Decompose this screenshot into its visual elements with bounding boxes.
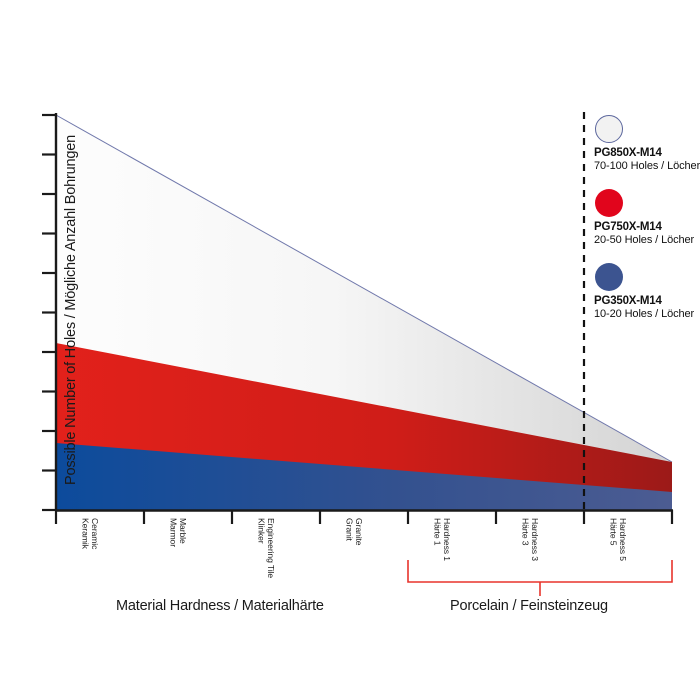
xtick-label-engineering-tile: Engineering Tile Klinker [256, 518, 275, 578]
xtick-label-ceramic: Ceramic Keramik [80, 518, 99, 549]
legend-item-pg750x: PG750X-M14 20-50 Holes / Löcher [594, 221, 694, 247]
xtick-label-hardness-5: Hardness 5 Härte 5 [608, 518, 627, 561]
xtick-label-engineering-tile-en: Engineering Tile [266, 518, 276, 578]
y-axis-title: Possible Number of Holes / Mögliche Anza… [63, 110, 79, 510]
legend-title-pg750x: PG750X-M14 [594, 221, 694, 234]
legend-swatch-pg850x [595, 115, 623, 143]
xtick-label-hardness-1: Hardness 1 Härte 1 [432, 518, 451, 561]
xtick-label-hardness-1-de: Härte 1 [432, 518, 442, 561]
xtick-label-ceramic-de: Keramik [80, 518, 90, 549]
hardness-area-chart [0, 0, 700, 700]
caption-porcelain: Porcelain / Feinsteinzeug [450, 598, 608, 614]
legend-swatch-pg350x [595, 263, 623, 291]
porcelain-bracket [408, 560, 672, 596]
xtick-label-hardness-5-de: Härte 5 [608, 518, 618, 561]
caption-material-hardness: Material Hardness / Materialhärte [116, 598, 324, 614]
xtick-label-hardness-3: Hardness 3 Härte 3 [520, 518, 539, 561]
legend-item-pg850x: PG850X-M14 70-100 Holes / Löcher [594, 147, 700, 173]
xtick-label-marble-de: Marmor [168, 518, 178, 547]
chart-canvas: Possible Number of Holes / Mögliche Anza… [0, 0, 700, 700]
xtick-label-granite: Granite Granit [344, 518, 363, 545]
xtick-label-ceramic-en: Ceramic [90, 518, 100, 549]
legend-subtitle-pg750x: 20-50 Holes / Löcher [594, 234, 694, 247]
legend-subtitle-pg350x: 10-20 Holes / Löcher [594, 308, 694, 321]
xtick-label-granite-de: Granit [344, 518, 354, 545]
legend-swatch-pg750x [595, 189, 623, 217]
legend-title-pg350x: PG350X-M14 [594, 295, 694, 308]
xtick-label-engineering-tile-de: Klinker [256, 518, 266, 578]
legend-title-pg850x: PG850X-M14 [594, 147, 700, 160]
xtick-label-hardness-1-en: Hardness 1 [442, 518, 452, 561]
xtick-label-marble: Marble Marmor [168, 518, 187, 547]
y-axis-ticks [42, 115, 56, 510]
xtick-label-hardness-3-de: Härte 3 [520, 518, 530, 561]
x-axis-ticks [56, 510, 672, 524]
legend-item-pg350x: PG350X-M14 10-20 Holes / Löcher [594, 295, 694, 321]
xtick-label-granite-en: Granite [354, 518, 364, 545]
legend-subtitle-pg850x: 70-100 Holes / Löcher [594, 160, 700, 173]
xtick-label-hardness-3-en: Hardness 3 [530, 518, 540, 561]
xtick-label-hardness-5-en: Hardness 5 [618, 518, 628, 561]
xtick-label-marble-en: Marble [178, 518, 188, 547]
